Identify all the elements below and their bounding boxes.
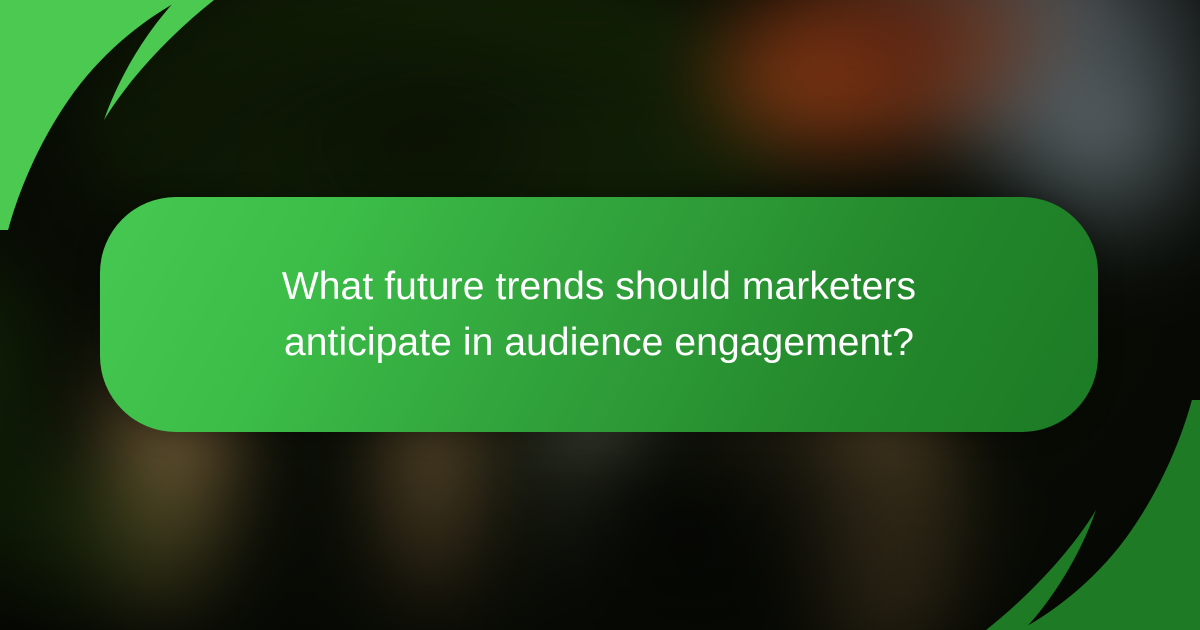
quote-card-canvas: What future trends should marketers anti… [0, 0, 1200, 630]
quote-card: What future trends should marketers anti… [100, 197, 1098, 432]
quote-text: What future trends should marketers anti… [239, 259, 959, 371]
